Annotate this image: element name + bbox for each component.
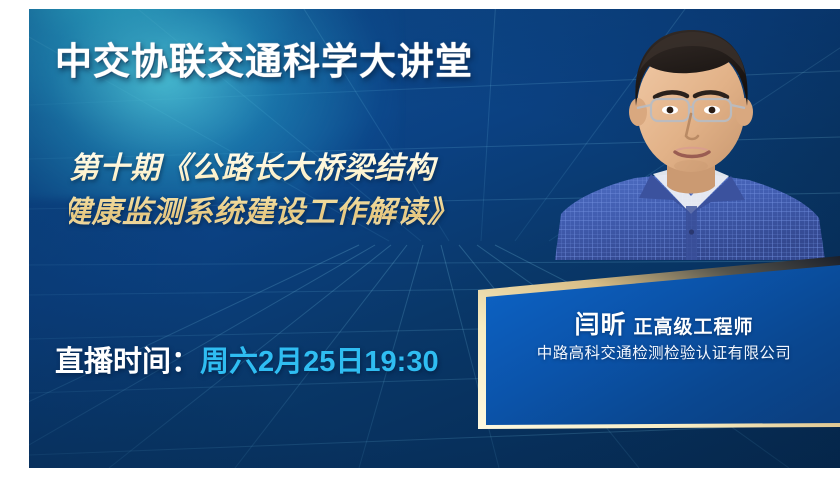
subtitle-line-2: 健康监测系统建设工作解读》	[61, 191, 458, 235]
speaker-portrait	[543, 9, 840, 260]
portrait-illustration	[543, 9, 840, 260]
poster-canvas: 中交协联交通科学大讲堂 第十期《公路长大桥梁结构 健康监测系统建设工作解读》 直…	[29, 9, 840, 468]
session-subtitle: 第十期《公路长大桥梁结构 健康监测系统建设工作解读》	[69, 147, 458, 235]
speaker-name: 闫昕	[574, 311, 626, 339]
page-title: 中交协联交通科学大讲堂	[55, 31, 473, 85]
speaker-name-row: 闫昕正高级工程师	[498, 305, 830, 341]
speaker-company: 中路高科交通检测检验认证有限公司	[498, 341, 830, 363]
live-time-value: 周六2月25日19:30	[200, 346, 439, 378]
speaker-title: 正高级工程师	[634, 317, 754, 338]
subtitle-line-1: 第十期《公路长大桥梁结构	[69, 147, 458, 191]
live-time-line: 直播时间：周六2月25日19:30	[55, 338, 439, 380]
live-time-label: 直播时间：	[55, 346, 200, 378]
